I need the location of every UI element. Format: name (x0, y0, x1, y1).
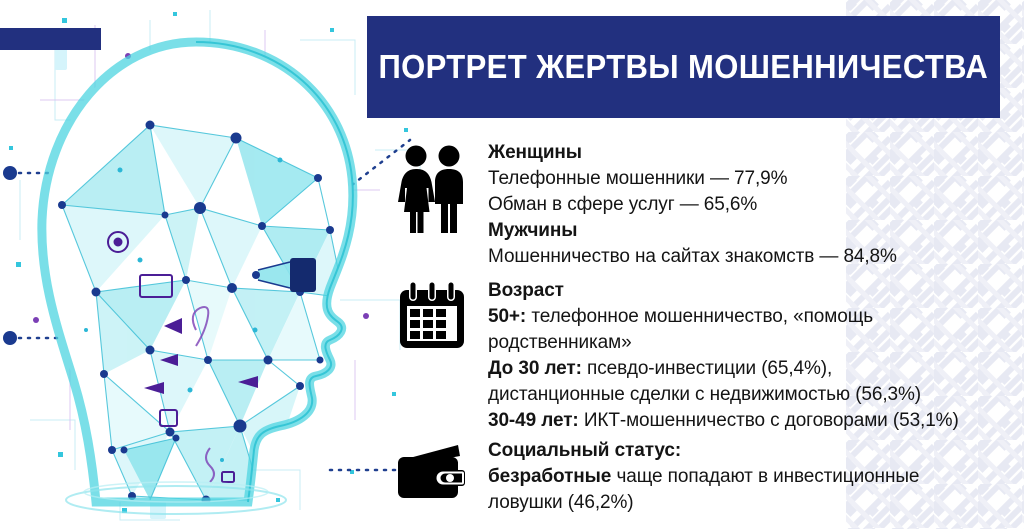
age-line-5: 30-49 лет: ИКТ-мошенничество с договорам… (488, 408, 1008, 434)
age-line-4: дистанционные сделки с недвижимостью (56… (488, 382, 1008, 408)
age-line-3-lead: До 30 лет: (488, 358, 582, 379)
social-line-2: ловушки (46,2%) (488, 490, 1008, 516)
gender-line-1: Телефонные мошенники — 77,9% (488, 166, 1008, 192)
age-line-1-rest: телефонное мошенничество, «помощь (526, 306, 873, 327)
people-icon (397, 144, 467, 236)
age-line-2: родственникам» (488, 330, 1008, 356)
age-line-5-lead: 30-49 лет: (488, 410, 579, 431)
age-line-1: 50+: телефонное мошенничество, «помощь (488, 304, 1008, 330)
wallet-icon (396, 444, 468, 500)
gender-line-3: Мужчины (488, 218, 1008, 244)
gender-line-2: Обман в сфере услуг — 65,6% (488, 192, 1008, 218)
social-line-1: безработные чаще попадают в инвестиционн… (488, 464, 1008, 490)
tech-background (0, 0, 430, 529)
gender-line-0: Женщины (488, 140, 1008, 166)
gender-line-4: Мошенничество на сайтах знакомств — 84,8… (488, 244, 1008, 270)
calendar-icon-cell (392, 280, 472, 350)
calendar-icon (398, 280, 466, 350)
age-line-3-rest: псевдо-инвестиции (65,4%), (582, 358, 832, 379)
title-banner: ПОРТРЕТ ЖЕРТВЫ МОШЕННИЧЕСТВА (367, 16, 1000, 118)
age-text-column: Возраст 50+: телефонное мошенничество, «… (488, 278, 1008, 434)
page-title: ПОРТРЕТ ЖЕРТВЫ МОШЕННИЧЕСТВА (379, 50, 989, 85)
accent-bar (0, 28, 101, 50)
age-line-5-rest: ИКТ-мошенничество с договорами (53,1%) (579, 410, 959, 431)
slide-root: ПОРТРЕТ ЖЕРТВЫ МОШЕННИЧЕСТВА Женщины Тел… (0, 0, 1024, 529)
social-line-0: Социальный статус: (488, 438, 1008, 464)
age-line-3: До 30 лет: псевдо-инвестиции (65,4%), (488, 356, 1008, 382)
gender-text-column: Женщины Телефонные мошенники — 77,9% Обм… (488, 140, 1008, 270)
low-poly-head-illustration (0, 30, 400, 529)
wallet-icon-cell (392, 444, 472, 500)
age-line-0: Возраст (488, 278, 1008, 304)
age-line-1-lead: 50+: (488, 306, 526, 327)
people-icon-cell (392, 144, 472, 236)
social-text-column: Социальный статус: безработные чаще попа… (488, 438, 1008, 516)
content-area: Женщины Телефонные мошенники — 77,9% Обм… (392, 140, 1012, 525)
social-line-1-rest: чаще попадают в инвестиционные (611, 466, 919, 487)
social-line-1-lead: безработные (488, 466, 611, 487)
